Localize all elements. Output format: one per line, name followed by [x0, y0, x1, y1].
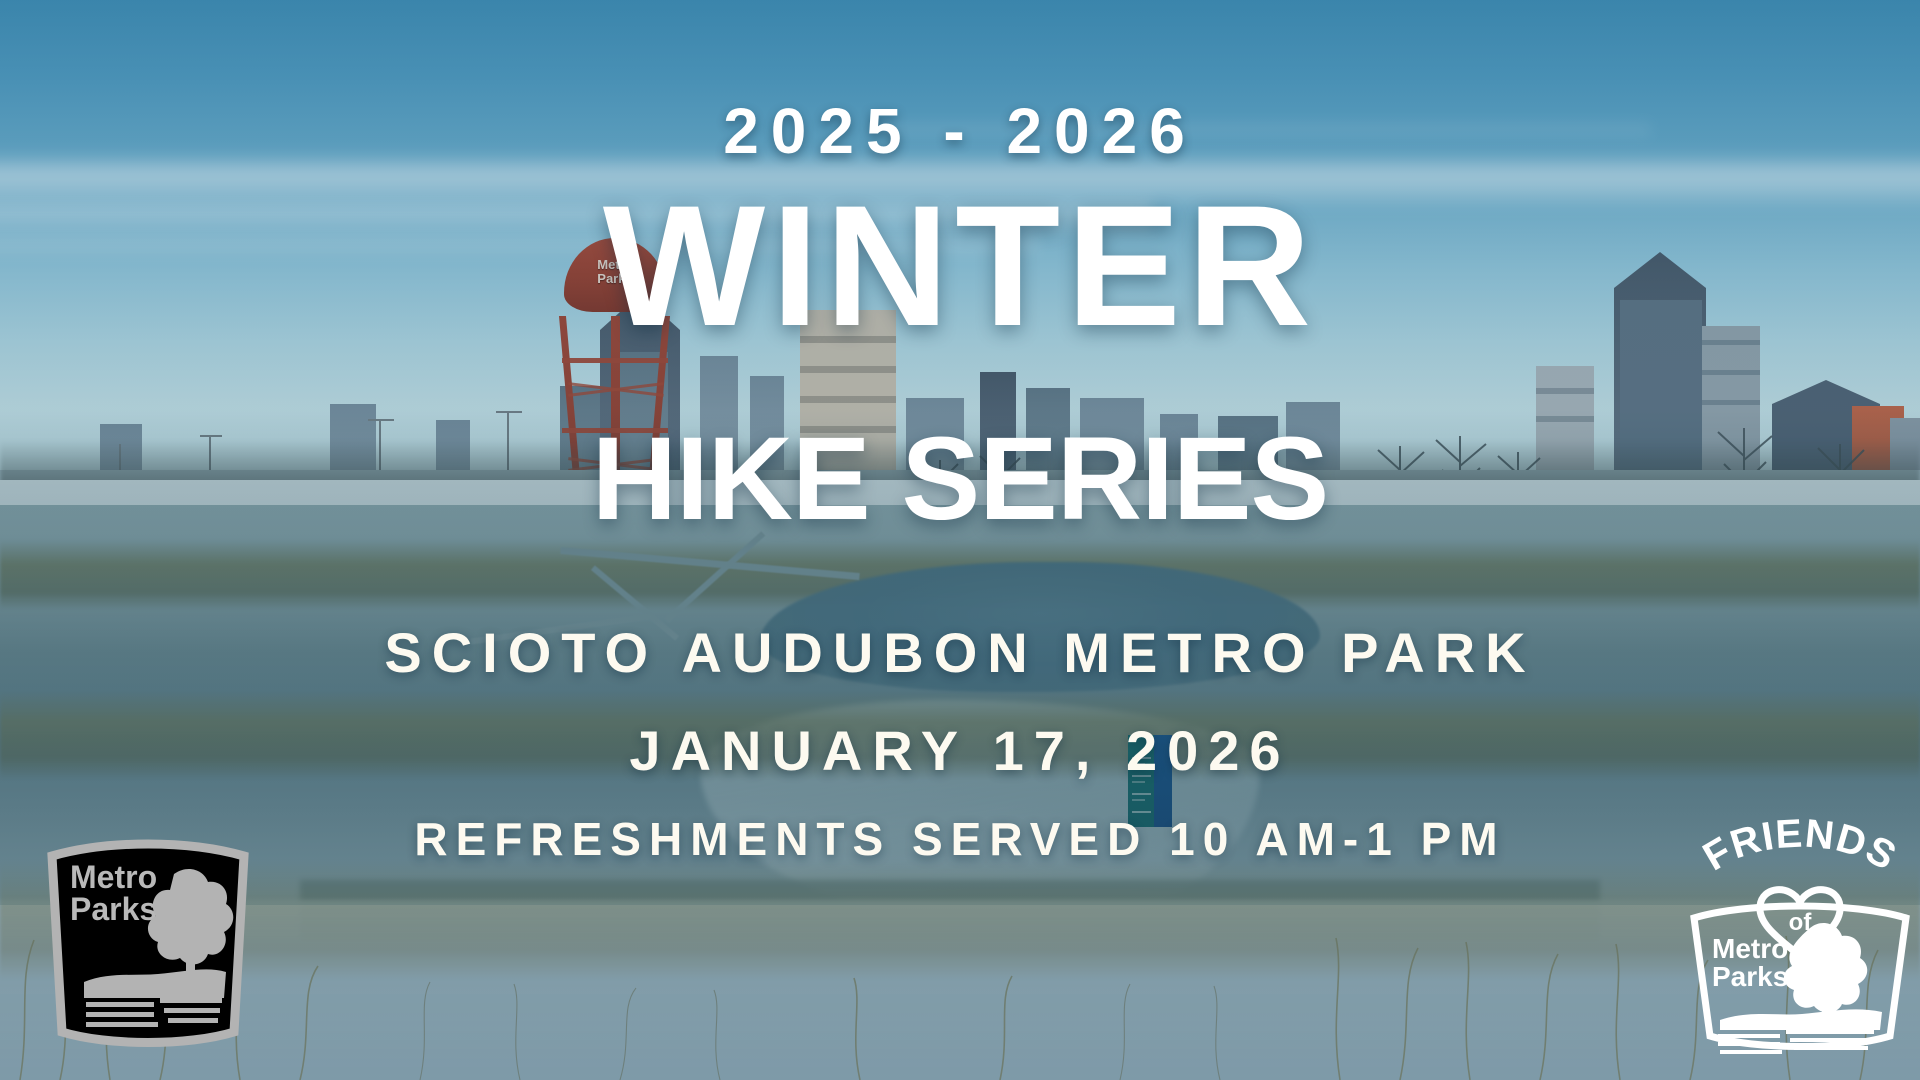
title-hike-series: HIKE SERIES — [0, 420, 1920, 538]
poster-copy: 2025 - 2026 WINTER HIKE SERIES SCIOTO AU… — [0, 0, 1920, 1080]
badge-line2: Parks — [1712, 961, 1788, 992]
winter-hike-series-poster: Metro Parks — [0, 0, 1920, 1080]
badge-line2: Parks — [70, 891, 157, 927]
metro-parks-badge: Metro Parks — [38, 826, 258, 1052]
friends-of-metro-parks-badge: FRIENDS of Metro Parks — [1684, 806, 1916, 1058]
badge-line1: Metro — [70, 859, 157, 895]
year-range: 2025 - 2026 — [0, 94, 1920, 168]
badge-line1: Metro — [1712, 933, 1788, 964]
refreshments-info: REFRESHMENTS SERVED 10 AM-1 PM — [0, 812, 1920, 866]
venue-name: SCIOTO AUDUBON METRO PARK — [0, 620, 1920, 685]
event-date: JANUARY 17, 2026 — [0, 718, 1920, 783]
friends-arc-text: FRIENDS — [1696, 812, 1904, 880]
title-winter: WINTER — [0, 180, 1920, 352]
